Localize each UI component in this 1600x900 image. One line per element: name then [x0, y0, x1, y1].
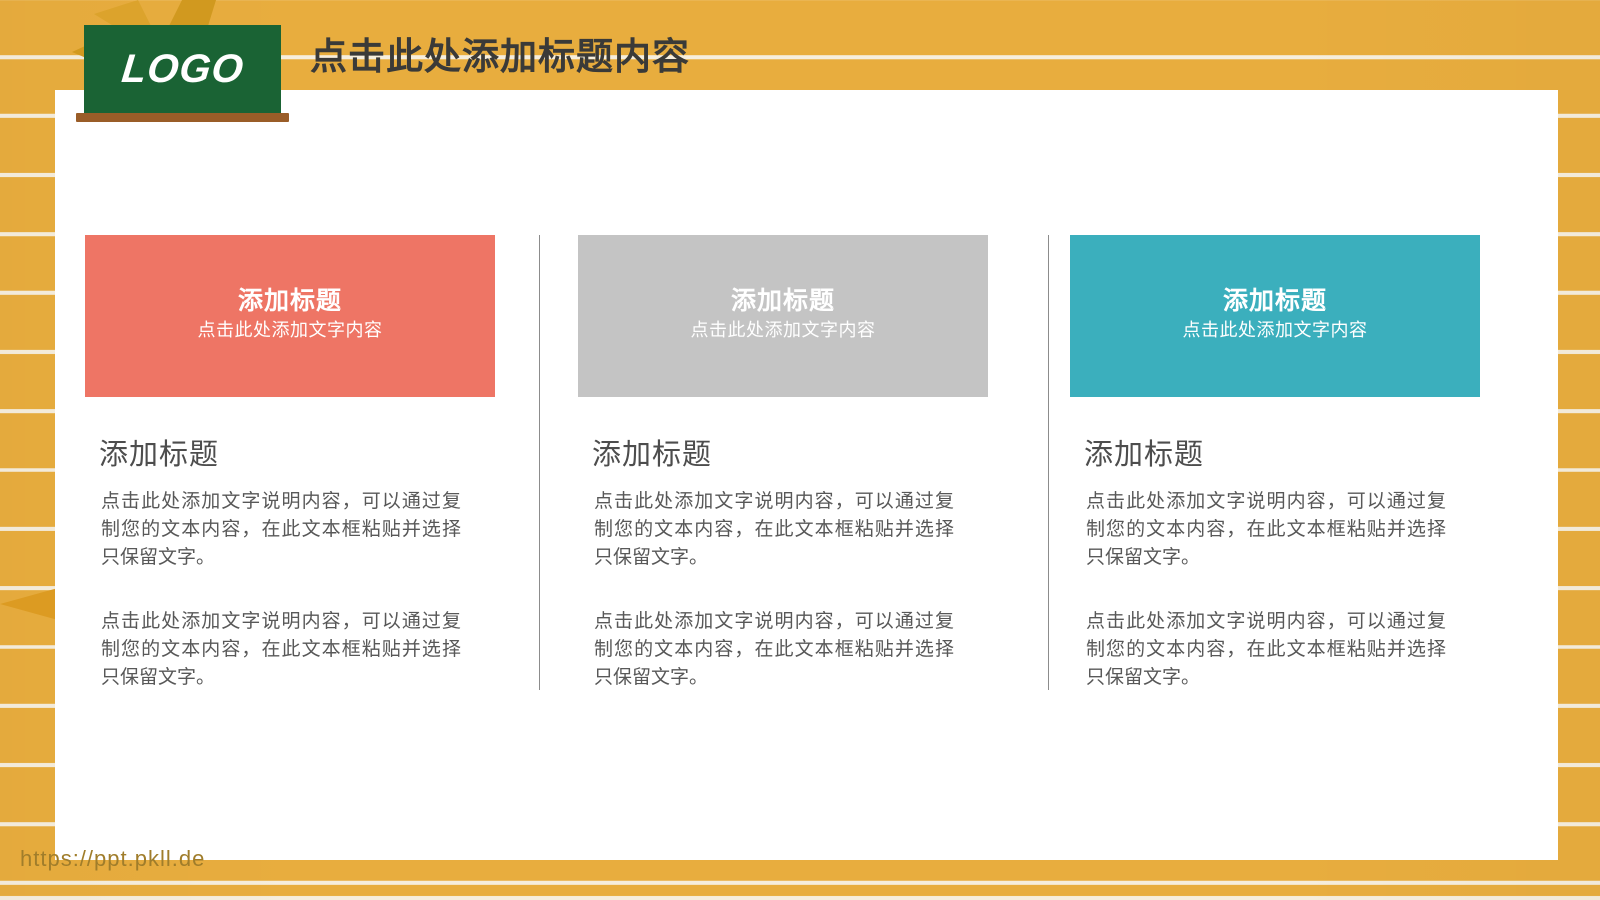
columns-container: 添加标题 点击此处添加文字内容 添加标题 点击此处添加文字说明内容，可以通过复制…	[55, 90, 1558, 860]
column-3-paragraph-1: 点击此处添加文字说明内容，可以通过复制您的文本内容，在此文本框粘贴并选择只保留文…	[1086, 488, 1446, 572]
card-2-subtitle: 点击此处添加文字内容	[691, 317, 876, 344]
card-3-subtitle: 点击此处添加文字内容	[1183, 317, 1368, 344]
column-2-paragraphs: 点击此处添加文字说明内容，可以通过复制您的文本内容，在此文本框粘贴并选择只保留文…	[594, 488, 954, 692]
blackboard-ledge	[76, 113, 289, 122]
column-3-heading: 添加标题	[1084, 438, 1204, 473]
card-1-title: 添加标题	[238, 288, 342, 316]
content-panel: 添加标题 点击此处添加文字内容 添加标题 点击此处添加文字说明内容，可以通过复制…	[55, 90, 1558, 860]
card-2-title: 添加标题	[731, 288, 835, 316]
card-1[interactable]: 添加标题 点击此处添加文字内容	[85, 235, 495, 397]
logo-text: LOGO	[119, 47, 246, 92]
blackboard-surface: LOGO	[84, 25, 281, 113]
logo-blackboard[interactable]: LOGO	[84, 25, 281, 113]
column-2-heading: 添加标题	[592, 438, 712, 473]
column-3-paragraph-2: 点击此处添加文字说明内容，可以通过复制您的文本内容，在此文本框粘贴并选择只保留文…	[1086, 608, 1446, 692]
card-3-title: 添加标题	[1223, 288, 1327, 316]
column-2-paragraph-2: 点击此处添加文字说明内容，可以通过复制您的文本内容，在此文本框粘贴并选择只保留文…	[594, 608, 954, 692]
card-1-subtitle: 点击此处添加文字内容	[198, 317, 383, 344]
watermark-url: https://ppt.pkll.de	[20, 846, 205, 872]
column-1-paragraph-2: 点击此处添加文字说明内容，可以通过复制您的文本内容，在此文本框粘贴并选择只保留文…	[101, 608, 461, 692]
decorative-left-arrow-icon	[0, 588, 58, 620]
card-3[interactable]: 添加标题 点击此处添加文字内容	[1070, 235, 1480, 397]
column-1-paragraph-1: 点击此处添加文字说明内容，可以通过复制您的文本内容，在此文本框粘贴并选择只保留文…	[101, 488, 461, 572]
column-1-heading: 添加标题	[99, 438, 219, 473]
card-2[interactable]: 添加标题 点击此处添加文字内容	[578, 235, 988, 397]
column-1-paragraphs: 点击此处添加文字说明内容，可以通过复制您的文本内容，在此文本框粘贴并选择只保留文…	[101, 488, 461, 692]
slide-canvas: 添加标题 点击此处添加文字内容 添加标题 点击此处添加文字说明内容，可以通过复制…	[0, 0, 1600, 900]
column-3-paragraphs: 点击此处添加文字说明内容，可以通过复制您的文本内容，在此文本框粘贴并选择只保留文…	[1086, 488, 1446, 692]
page-title: 点击此处添加标题内容	[310, 26, 690, 80]
column-2-paragraph-1: 点击此处添加文字说明内容，可以通过复制您的文本内容，在此文本框粘贴并选择只保留文…	[594, 488, 954, 572]
